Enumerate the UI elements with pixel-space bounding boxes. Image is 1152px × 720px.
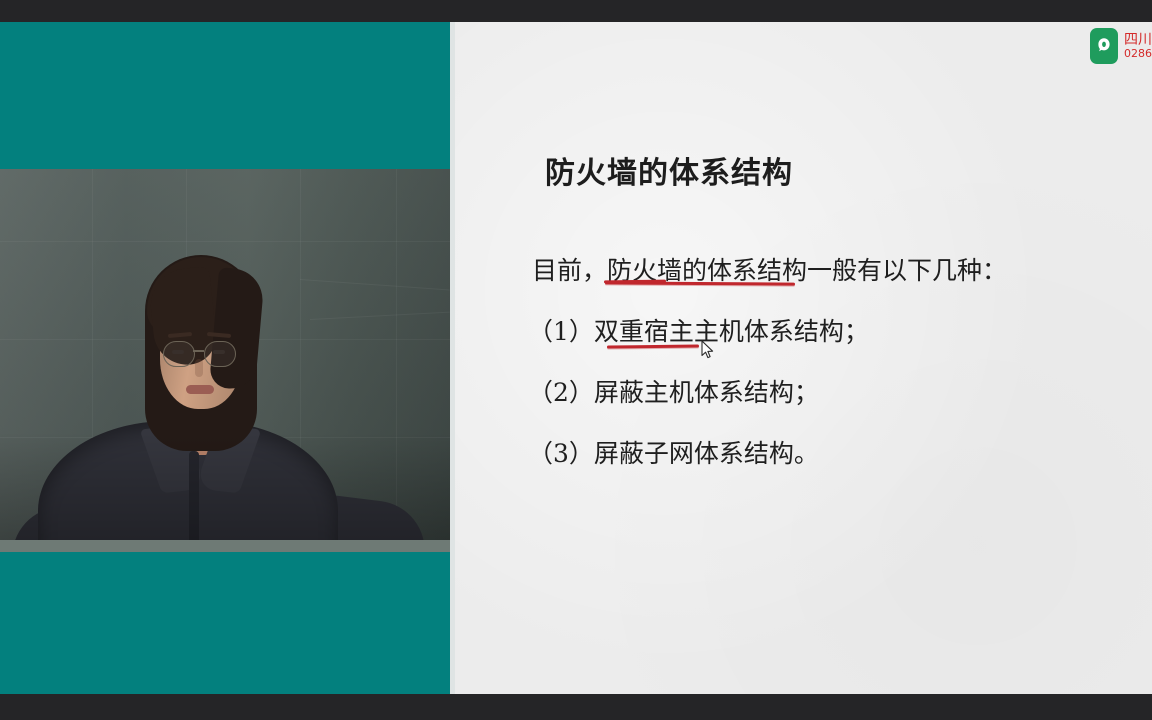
slide-body: 目前，防火墙的体系结构一般有以下几种： （1）双重宿主主机体系结构； （2）屏蔽…: [532, 258, 1092, 466]
screen-recording-frame: 防火墙的体系结构 目前，防火墙的体系结构一般有以下几种： （1）双重宿主主机体系…: [0, 0, 1152, 720]
slide-title: 防火墙的体系结构: [545, 148, 793, 192]
slide-body-line: （2）屏蔽主机体系结构；: [528, 380, 1092, 405]
bottom-letterbox-bar: [0, 694, 1152, 720]
watermark-name: 四川: [1124, 32, 1152, 48]
glasses-lens-left-icon: [163, 341, 195, 367]
glasses-lens-right-icon: [204, 341, 236, 367]
watermark: 四川 0286: [1090, 28, 1152, 64]
presenter-mouth: [186, 385, 214, 394]
desk-edge: [0, 540, 450, 552]
watermark-text: 四川 0286: [1124, 32, 1152, 61]
slide-body-line: （1）双重宿主主机体系结构；: [528, 319, 1092, 344]
top-letterbox-bar: [0, 0, 1152, 22]
glasses-bridge-icon: [193, 350, 204, 352]
watermark-phone: 0286: [1124, 48, 1152, 61]
slide-body-line: （3）屏蔽子网体系结构。: [528, 441, 1092, 466]
slide-canvas[interactable]: 防火墙的体系结构 目前，防火墙的体系结构一般有以下几种： （1）双重宿主主机体系…: [455, 22, 1152, 694]
presenter-nose: [195, 359, 203, 377]
webcam-video-feed[interactable]: [0, 169, 450, 552]
webcam-vignette: [0, 432, 450, 552]
brand-logo-icon: [1090, 28, 1118, 64]
slide-body-line: 目前，防火墙的体系结构一般有以下几种：: [532, 258, 1092, 283]
